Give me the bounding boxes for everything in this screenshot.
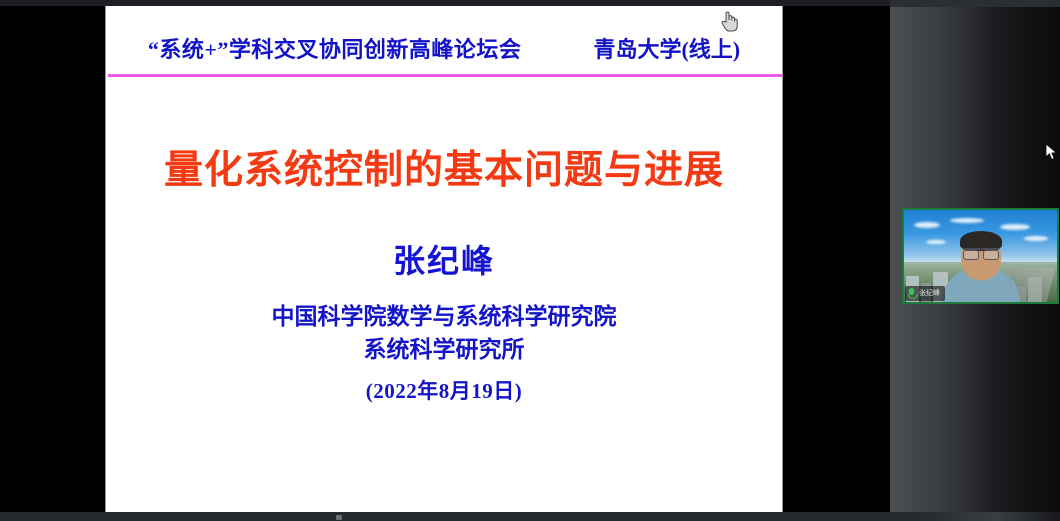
arrow-cursor: [1045, 143, 1059, 161]
slide-main-title: 量化系统控制的基本问题与进展: [106, 139, 782, 195]
cloud-shape: [926, 240, 946, 244]
host-organization: 青岛大学(线上): [593, 32, 740, 64]
cloud-shape: [1024, 236, 1048, 241]
participant-video-tile[interactable]: 张纪峰: [902, 208, 1059, 304]
forum-title: “系统+”学科交叉协同创新高峰论坛会: [148, 32, 522, 64]
participant-name-badge: 张纪峰: [905, 286, 945, 301]
shared-slide: “系统+”学科交叉协同创新高峰论坛会 青岛大学(线上) 量化系统控制的基本问题与…: [105, 6, 783, 512]
slide-header-divider: [108, 74, 782, 77]
affiliation-line-1: 中国科学院数学与系统科学研究院: [106, 301, 782, 334]
hand-pointer-cursor: [719, 9, 739, 33]
slide-affiliation: 中国科学院数学与系统科学研究院 系统科学研究所: [106, 301, 782, 366]
cloud-shape: [1000, 224, 1030, 230]
cloud-shape: [950, 218, 984, 223]
slide-date: (2022年8月19日): [106, 375, 782, 405]
glasses-shape: [963, 248, 999, 259]
zoom-screen-share-window: “系统+”学科交叉协同创新高峰论坛会 青岛大学(线上) 量化系统控制的基本问题与…: [0, 0, 1060, 521]
microphone-icon: [907, 288, 916, 299]
meeting-toolbar-right-section[interactable]: [920, 512, 1060, 521]
participant-name-label: 张纪峰: [919, 290, 940, 297]
toolbar-control-indicator[interactable]: [336, 515, 342, 520]
stage-side-panel-top-strip: [890, 0, 1060, 7]
slide-author-name: 张纪峰: [106, 236, 782, 282]
meeting-toolbar[interactable]: [0, 512, 1060, 521]
cloud-shape: [914, 222, 940, 228]
affiliation-line-2: 系统科学研究所: [106, 334, 782, 367]
slide-header: “系统+”学科交叉协同创新高峰论坛会 青岛大学(线上): [106, 24, 782, 72]
